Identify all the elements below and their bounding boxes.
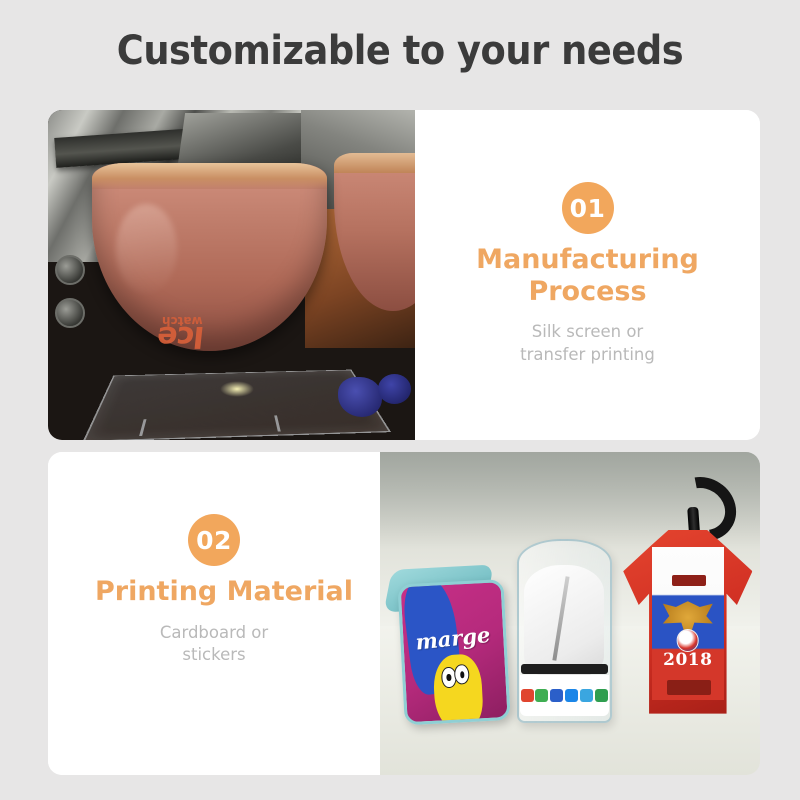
step-02-heading: Printing Material	[95, 576, 353, 608]
feature-icon	[565, 689, 578, 702]
feature-icon	[580, 689, 593, 702]
step-01-heading: Manufacturing Process	[470, 244, 705, 307]
ice-brand-subtext: watch	[162, 314, 203, 328]
step-02-text-panel: 02 Printing Material Cardboard or sticke…	[48, 452, 380, 775]
blue-component	[378, 374, 411, 404]
step-card-02: 02 Printing Material Cardboard or sticke…	[48, 452, 760, 775]
cylinder-black-band	[521, 664, 608, 673]
step-number-badge-01: 01	[562, 182, 614, 234]
step-number-badge-02: 02	[188, 514, 240, 566]
photo-scene: Ice watch	[48, 110, 415, 440]
marge-eye	[454, 664, 470, 685]
light-reflection	[220, 381, 253, 398]
step-01-text-panel: 01 Manufacturing Process Silk screen or …	[415, 110, 760, 440]
tshirt-window	[667, 680, 711, 695]
cylinder-package	[517, 539, 612, 723]
feature-icon	[550, 689, 563, 702]
feature-icon	[535, 689, 548, 702]
step-card-01: Ice watch 01 Manufacturing Process Silk …	[48, 110, 760, 440]
acrylic-edge	[274, 415, 281, 431]
soccer-ball-icon	[676, 629, 699, 652]
printing-material-photo: marge	[380, 452, 760, 775]
machine-bolt	[55, 298, 85, 328]
acrylic-edge	[139, 419, 146, 436]
photo-scene: marge	[380, 452, 760, 775]
marge-face	[433, 654, 485, 726]
blue-component	[338, 377, 382, 417]
manufacturing-process-photo: Ice watch	[48, 110, 415, 440]
marge-tin-package: marge	[392, 578, 506, 722]
tshirt-year-label: 2018	[663, 650, 712, 670]
feature-icon	[521, 689, 534, 702]
tin-body: marge	[398, 580, 511, 726]
page-title: Customizable to your needs	[32, 28, 768, 74]
step-02-subtitle: Cardboard or stickers	[160, 622, 268, 668]
marge-pupil	[460, 671, 465, 678]
bowl-rim	[334, 153, 415, 174]
machine-bolt	[55, 255, 85, 285]
step-01-subtitle: Silk screen or transfer printing	[520, 321, 655, 367]
primary-bowl-mould	[92, 163, 327, 351]
tshirt-package: 2018	[623, 526, 752, 713]
bowl-rim	[92, 163, 327, 189]
cylinder-icon-strip	[520, 675, 609, 716]
bowl-highlight	[116, 204, 177, 294]
feature-icon	[595, 689, 608, 702]
tshirt-tab	[672, 575, 706, 586]
marge-pupil	[447, 674, 452, 681]
